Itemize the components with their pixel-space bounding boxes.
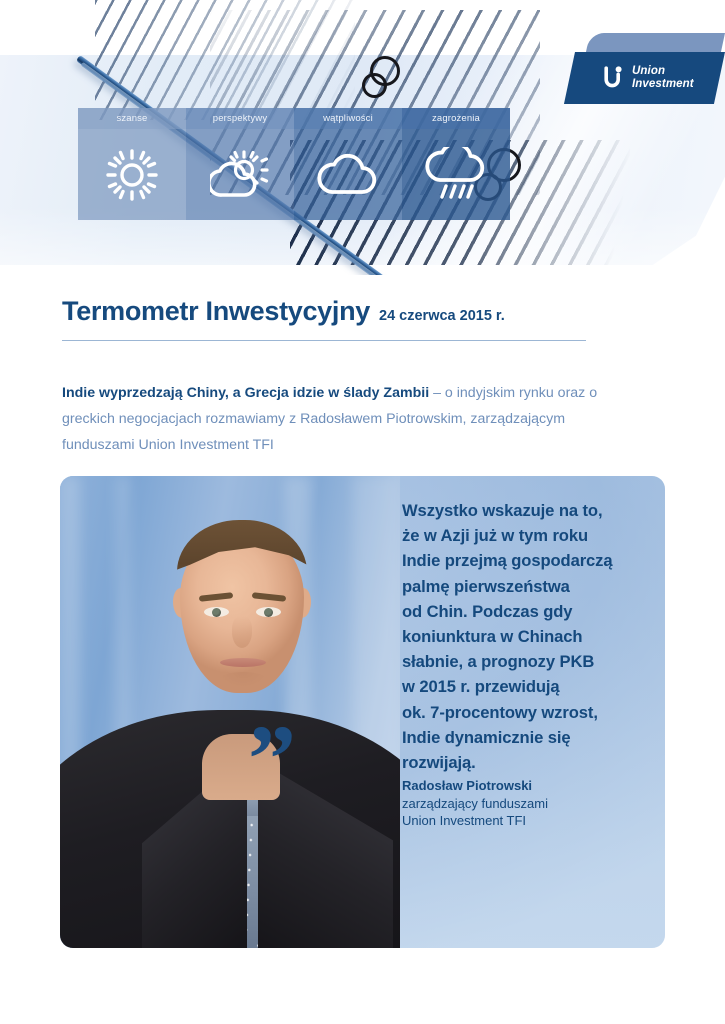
sentiment-tiles: szanse xyxy=(78,108,510,220)
sentiment-tile-label: wątpliwości xyxy=(294,108,402,129)
page-title: Termometr Inwestycyjny xyxy=(62,296,370,327)
sentiment-tile-zagrozenia[interactable]: zagrożenia xyxy=(402,108,510,220)
sentiment-tile-label: szanse xyxy=(78,108,186,129)
issue-date: 24 czerwca 2015 r. xyxy=(379,308,505,324)
portrait-eye-right xyxy=(256,607,281,617)
subtitle-lead: Indie wyprzedzają Chiny, a Grecja idzie … xyxy=(62,385,429,401)
portrait-nose xyxy=(232,616,252,648)
sentiment-tile-label: perspektywy xyxy=(186,108,294,129)
brand-logo-line1: Union xyxy=(632,65,665,77)
rain-cloud-icon xyxy=(402,129,510,220)
cloud-icon xyxy=(294,129,402,220)
portrait-photo xyxy=(60,476,400,948)
sentiment-tile-szanse[interactable]: szanse xyxy=(78,108,186,220)
sun-icon xyxy=(78,129,186,220)
union-investment-u-mark-icon xyxy=(603,66,624,90)
sentiment-tile-label: zagrożenia xyxy=(402,108,510,129)
page-title-row: Termometr Inwestycyjny 24 czerwca 2015 r… xyxy=(62,296,662,327)
sun-behind-cloud-icon xyxy=(186,129,294,220)
brand-logo[interactable]: Union Investment xyxy=(575,52,725,104)
sentiment-tile-watpliwosci[interactable]: wątpliwości xyxy=(294,108,402,220)
brand-logo-line2: Investment xyxy=(632,78,694,90)
portrait-mouth xyxy=(220,658,266,667)
brand-logo-text: Union Investment xyxy=(632,65,694,91)
quote-body: Wszystko wskazuje na to, że w Azji już w… xyxy=(402,498,657,775)
pull-quote: Wszystko wskazuje na to, że w Azji już w… xyxy=(402,498,657,830)
sentiment-tile-perspektywy[interactable]: perspektywy xyxy=(186,108,294,220)
title-divider xyxy=(62,340,586,341)
quote-author-name: Radosław Piotrowski xyxy=(402,777,657,795)
portrait-eye-left xyxy=(204,607,229,617)
quote-author-role: zarządzający funduszami Union Investment… xyxy=(402,795,657,830)
page-header-banner: szanse xyxy=(0,0,725,275)
decorative-ring-icon xyxy=(370,56,400,86)
article-subtitle: Indie wyprzedzają Chiny, a Grecja idzie … xyxy=(62,380,637,458)
portrait-chin xyxy=(218,672,268,688)
